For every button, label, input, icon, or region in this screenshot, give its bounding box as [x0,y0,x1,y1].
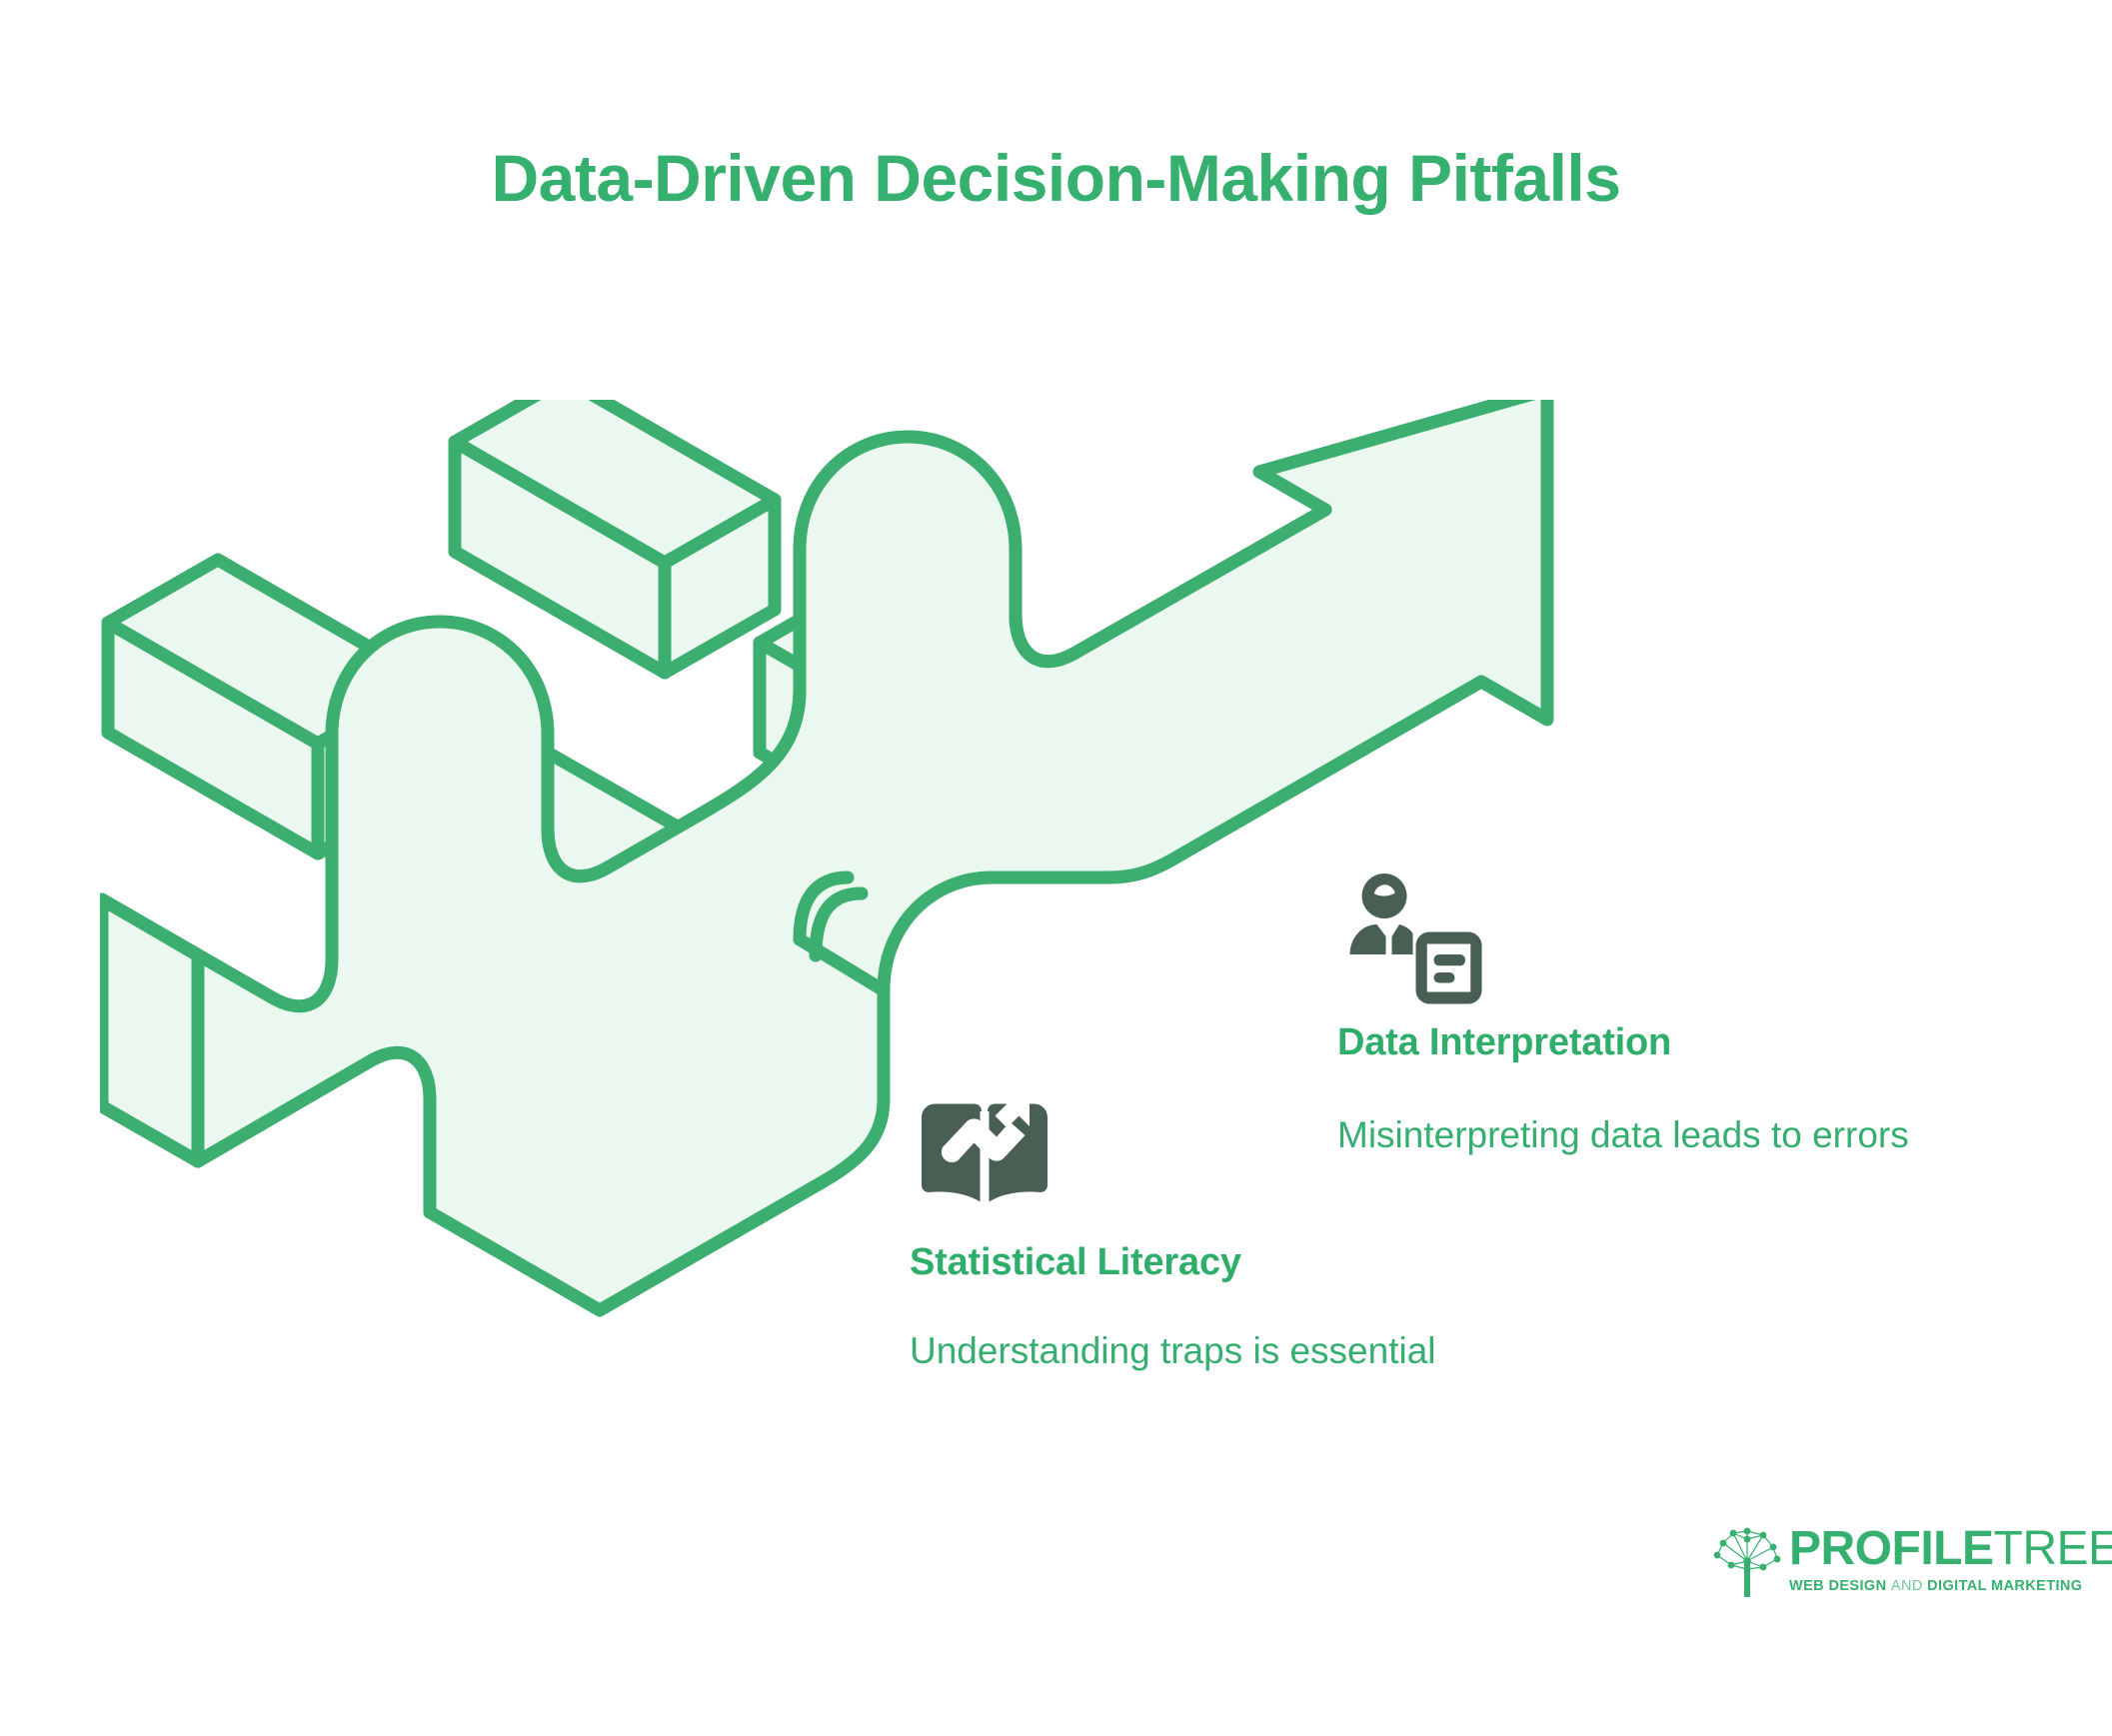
book-trend-icon [910,1081,1059,1231]
infographic-canvas: Data-Driven Decision-Making Pitfalls [0,0,2112,1736]
logo-tagline: WEB DESIGN AND DIGITAL MARKETING [1789,1578,2112,1594]
callout-body: Understanding traps is essential [910,1327,1639,1375]
profiletree-logo: PROFILETREE WEB DESIGN AND DIGITAL MARKE… [1711,1511,2059,1609]
logo-word-tree: TREE [1994,1522,2112,1575]
logo-wordmark: PROFILETREE [1789,1526,2112,1572]
logo-tagline-part1: WEB DESIGN [1789,1578,1886,1594]
callout-heading: Statistical Literacy [910,1239,1639,1287]
network-tree-icon [1711,1521,1783,1599]
person-document-icon [1345,862,1495,1011]
logo-tagline-part3: DIGITAL MARKETING [1927,1578,2082,1594]
logo-text-group: PROFILETREE WEB DESIGN AND DIGITAL MARKE… [1789,1526,2112,1594]
callout-heading: Data Interpretation [1337,1019,2067,1067]
callout-statistical-literacy: Statistical Literacy Understanding traps… [910,1081,1639,1375]
signpost-slab-upper [455,400,775,673]
logo-tagline-part2: AND [1891,1578,1923,1594]
page-title: Data-Driven Decision-Making Pitfalls [0,140,2112,216]
logo-word-profile: PROFILE [1789,1522,1994,1575]
